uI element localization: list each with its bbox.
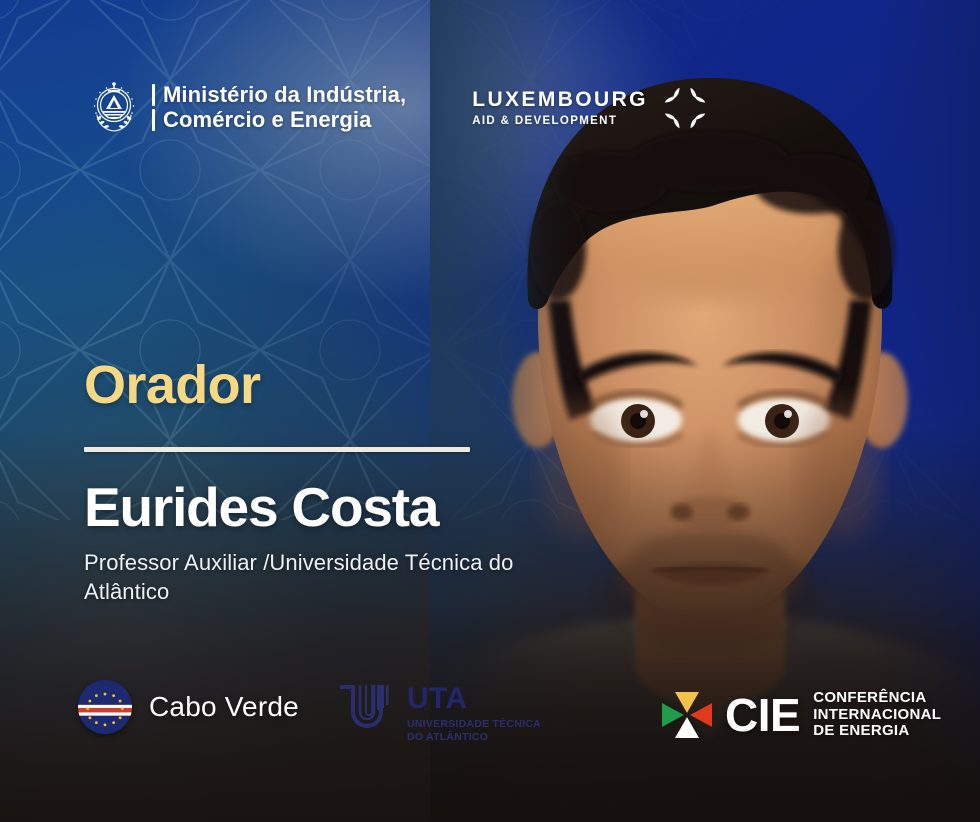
ministry-title-line2-row: Comércio e Energia (152, 107, 406, 132)
uta-logo-icon (338, 683, 396, 735)
divider-rule (84, 447, 470, 452)
uta-logo: UTA UNIVERSIDADE TÉCNICA DO ATLÂNTICO (338, 683, 541, 744)
cie-logo: CIE CONFERÊNCIA INTERNACIONAL DE ENERGIA (660, 690, 941, 740)
uta-wordmark: UTA UNIVERSIDADE TÉCNICA DO ATLÂNTICO (407, 683, 541, 744)
cie-wordmark: CONFERÊNCIA INTERNACIONAL DE ENERGIA (813, 690, 941, 740)
kicker-label: Orador (84, 356, 514, 414)
luxembourg-petals-icon (662, 85, 708, 131)
uta-line1: UNIVERSIDADE TÉCNICA (407, 718, 541, 731)
ministry-title-line1: Ministério da Indústria, (163, 82, 406, 107)
cie-abbr: CIE (725, 692, 800, 738)
cie-line1: CONFERÊNCIA (813, 690, 941, 707)
luxembourg-wordmark: LUXEMBOURG AID & DEVELOPMENT (472, 88, 648, 128)
divider-pipe-icon (152, 109, 155, 131)
speaker-announcement-card: Ministério da Indústria, Comércio e Ener… (0, 0, 980, 822)
luxembourg-logo: LUXEMBOURG AID & DEVELOPMENT (472, 85, 708, 131)
country-badge: Cabo Verde (78, 680, 299, 734)
speaker-role: Professor Auxiliar /Universidade Técnica… (84, 548, 514, 606)
ministry-title: Ministério da Indústria, Comércio e Ener… (152, 82, 406, 132)
ministry-title-line1-row: Ministério da Indústria, (152, 82, 406, 107)
speaker-block: Orador Eurides Costa Professor Auxiliar … (84, 356, 514, 606)
cie-line3: DE ENERGIA (813, 723, 941, 740)
cie-pinwheel-icon (660, 691, 714, 739)
cape-verde-flag-icon (78, 680, 132, 734)
luxembourg-line2: AID & DEVELOPMENT (472, 114, 648, 128)
luxembourg-line1: LUXEMBOURG (472, 88, 648, 111)
ministry-title-line2: Comércio e Energia (163, 107, 371, 132)
header-logos: Ministério da Indústria, Comércio e Ener… (86, 78, 708, 136)
uta-line2: DO ATLÂNTICO (407, 731, 541, 744)
divider-pipe-icon (152, 84, 155, 106)
cie-line2: INTERNACIONAL (813, 707, 941, 724)
country-label: Cabo Verde (149, 691, 299, 723)
ministry-logo: Ministério da Indústria, Comércio e Ener… (86, 78, 406, 136)
speaker-name: Eurides Costa (84, 478, 514, 536)
uta-abbr: UTA (407, 684, 541, 714)
ministry-seal-icon (86, 78, 142, 136)
